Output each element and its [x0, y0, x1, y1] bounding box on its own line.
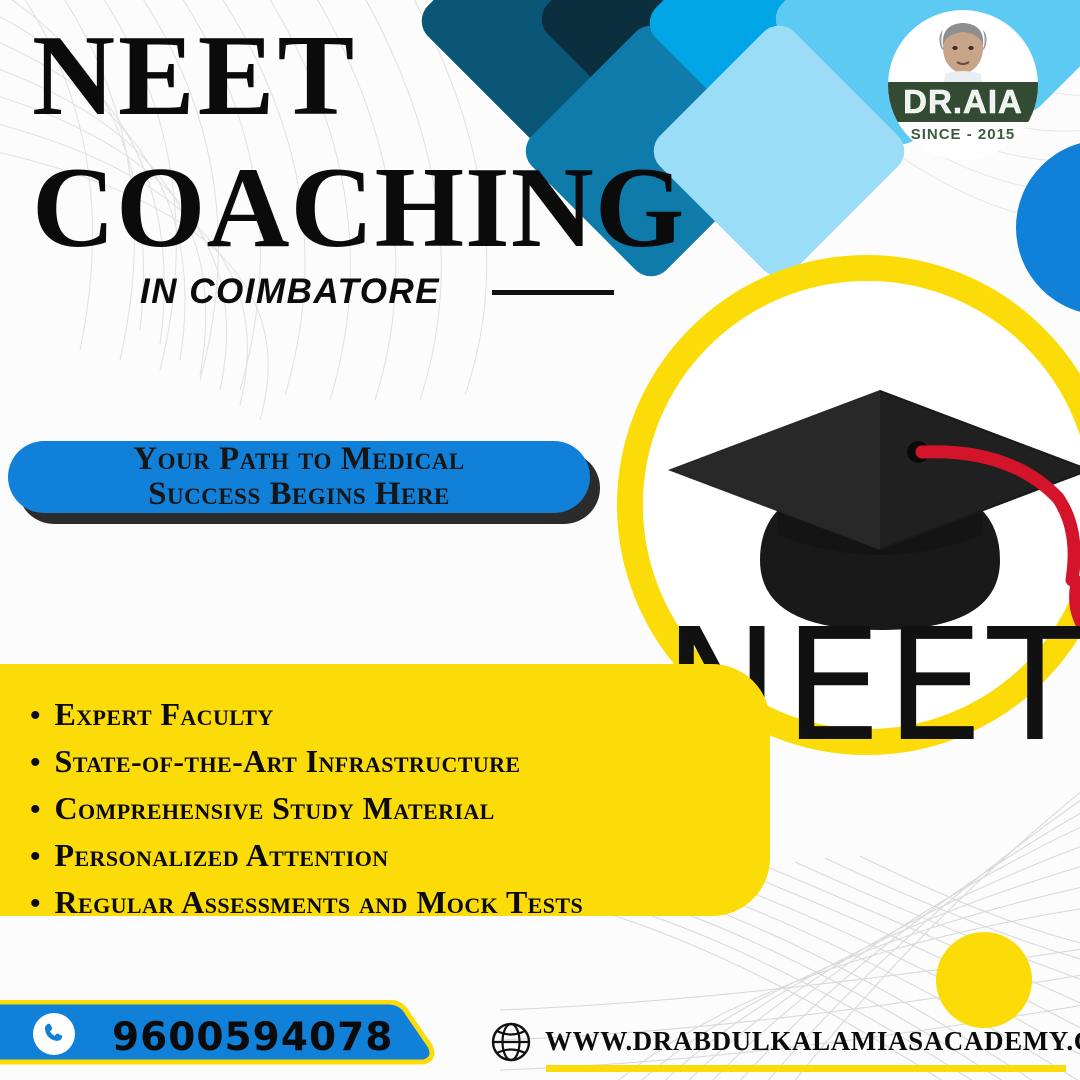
- portrait-icon: [931, 18, 995, 88]
- logo-brand-band: DR.AIA: [888, 82, 1038, 122]
- website-underline: [546, 1065, 1066, 1072]
- cta-line-1: Your Path to Medical: [133, 442, 464, 477]
- bullet-icon: •: [30, 701, 41, 731]
- bullet-icon: •: [30, 889, 41, 919]
- list-item: • Comprehensive Study Material: [30, 788, 790, 829]
- bullet-icon: •: [30, 748, 41, 778]
- blue-circle-decor: [1016, 140, 1080, 315]
- features-list: • Expert Faculty • State-of-the-Art Infr…: [30, 694, 790, 929]
- phone-icon-badge: [33, 1013, 75, 1055]
- subheading-row: IN COIMBATORE: [140, 272, 614, 312]
- cta-line-2: Success Begins Here: [133, 477, 464, 512]
- bullet-icon: •: [30, 842, 41, 872]
- page-title-line1: NEET: [32, 18, 357, 133]
- list-item: • Expert Faculty: [30, 694, 790, 735]
- logo-since-text: SINCE - 2015: [888, 126, 1038, 143]
- feature-label: Expert Faculty: [55, 694, 274, 735]
- feature-label: Comprehensive Study Material: [55, 788, 495, 829]
- phone-number: 9600594078: [112, 1015, 393, 1060]
- list-item: • State-of-the-Art Infrastructure: [30, 741, 790, 782]
- list-item: • Personalized Attention: [30, 835, 790, 876]
- feature-label: State-of-the-Art Infrastructure: [55, 741, 521, 782]
- brand-logo: DR.AIA SINCE - 2015: [888, 10, 1038, 160]
- page-title-line2: COACHING: [32, 150, 685, 265]
- phone-icon: [41, 1021, 67, 1047]
- feature-label: Regular Assessments and Mock Tests: [55, 882, 584, 923]
- yellow-circle-decor: [936, 932, 1032, 1028]
- subheading-divider: [492, 290, 614, 295]
- cta-banner[interactable]: Your Path to Medical Success Begins Here: [8, 441, 590, 513]
- globe-icon: [490, 1021, 532, 1063]
- list-item: • Regular Assessments and Mock Tests: [30, 882, 790, 923]
- subheading-city: IN COIMBATORE: [140, 272, 440, 312]
- feature-label: Personalized Attention: [55, 835, 389, 876]
- bullet-icon: •: [30, 795, 41, 825]
- poster-canvas: DR.AIA SINCE - 2015 NEET NEET COACHING I…: [0, 0, 1080, 1080]
- logo-brand-text: DR.AIA: [903, 83, 1023, 121]
- cta-text: Your Path to Medical Success Begins Here: [133, 442, 464, 511]
- website-url[interactable]: WWW.DRABDULKALAMIASACADEMY.COM: [545, 1026, 1080, 1057]
